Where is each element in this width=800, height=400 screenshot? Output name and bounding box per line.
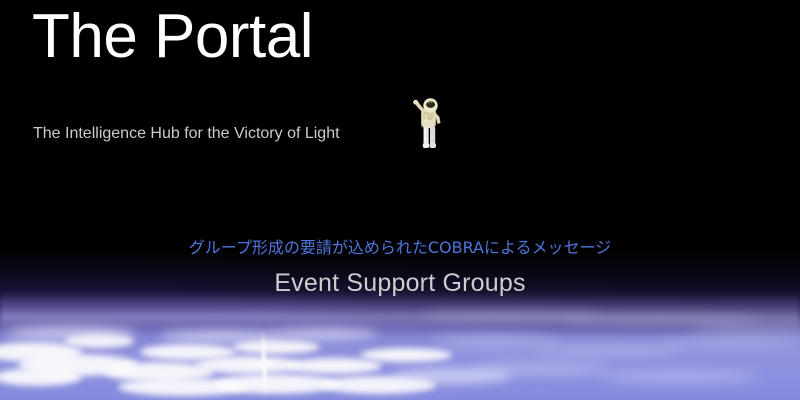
astronaut-icon [409,94,449,152]
cloud-field [0,318,800,400]
page-title: The Portal [32,4,313,71]
cloud-streak-cross [238,358,290,369]
article-subtitle-japanese: グループ形成の要請が込められたCOBRAによるメッセージ [0,238,800,258]
cloud-streak [261,330,267,394]
portal-hero-page: The Portal The Intelligence Hub for the … [0,0,800,400]
site-tagline: The Intelligence Hub for the Victory of … [33,124,340,143]
article-title: Event Support Groups [0,268,800,299]
terminator-shadow [0,250,800,360]
